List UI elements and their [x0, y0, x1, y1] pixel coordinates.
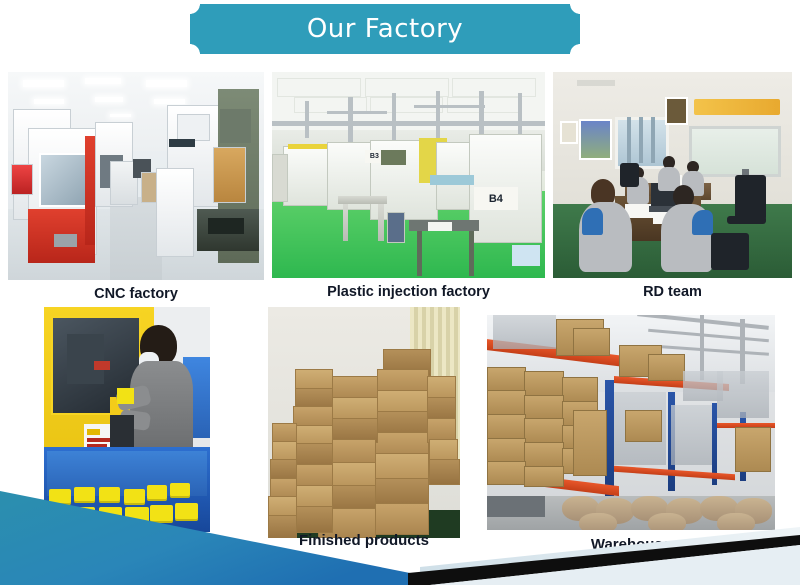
machine-label-b4: B4: [474, 187, 518, 210]
photo-warehouse: [487, 315, 775, 530]
photo-cnc-factory: [8, 72, 264, 280]
caption-cnc-factory: CNC factory: [8, 286, 264, 302]
page-title: Our Factory: [190, 4, 580, 54]
caption-plastic-injection: Plastic injection factory: [272, 284, 545, 300]
wall-banner: [694, 99, 780, 115]
gallery-item-plastic-injection[interactable]: B4 B3 Plastic injection factory: [272, 72, 545, 278]
photo-plastic-injection: B4 B3: [272, 72, 545, 278]
scene-rd-team: [553, 72, 792, 278]
page-title-banner: Our Factory: [190, 4, 580, 54]
gallery-item-cnc-factory[interactable]: CNC factory: [8, 72, 264, 280]
scene-work-shop: [44, 307, 210, 532]
caption-finished-products: Finished products: [268, 532, 460, 549]
photo-rd-team: [553, 72, 792, 278]
scene-warehouse: [487, 315, 775, 530]
scene-cnc-factory: [8, 72, 264, 280]
caption-warehouse: Warehouse: [487, 536, 775, 553]
gallery-item-finished-products[interactable]: Finished products: [268, 307, 460, 538]
our-factory-page: Our Factory: [0, 0, 800, 585]
gallery-item-work-shop[interactable]: Work shop: [44, 307, 210, 532]
caption-rd-team: RD team: [553, 284, 792, 300]
gallery-item-warehouse[interactable]: Warehouse: [487, 315, 775, 530]
photo-finished-products: [268, 307, 460, 538]
scene-finished-products: [268, 307, 460, 538]
photo-work-shop: [44, 307, 210, 532]
scene-plastic-injection: B4 B3: [272, 72, 545, 278]
gallery-item-rd-team[interactable]: RD team: [553, 72, 792, 278]
caption-work-shop: Work shop: [44, 539, 210, 556]
